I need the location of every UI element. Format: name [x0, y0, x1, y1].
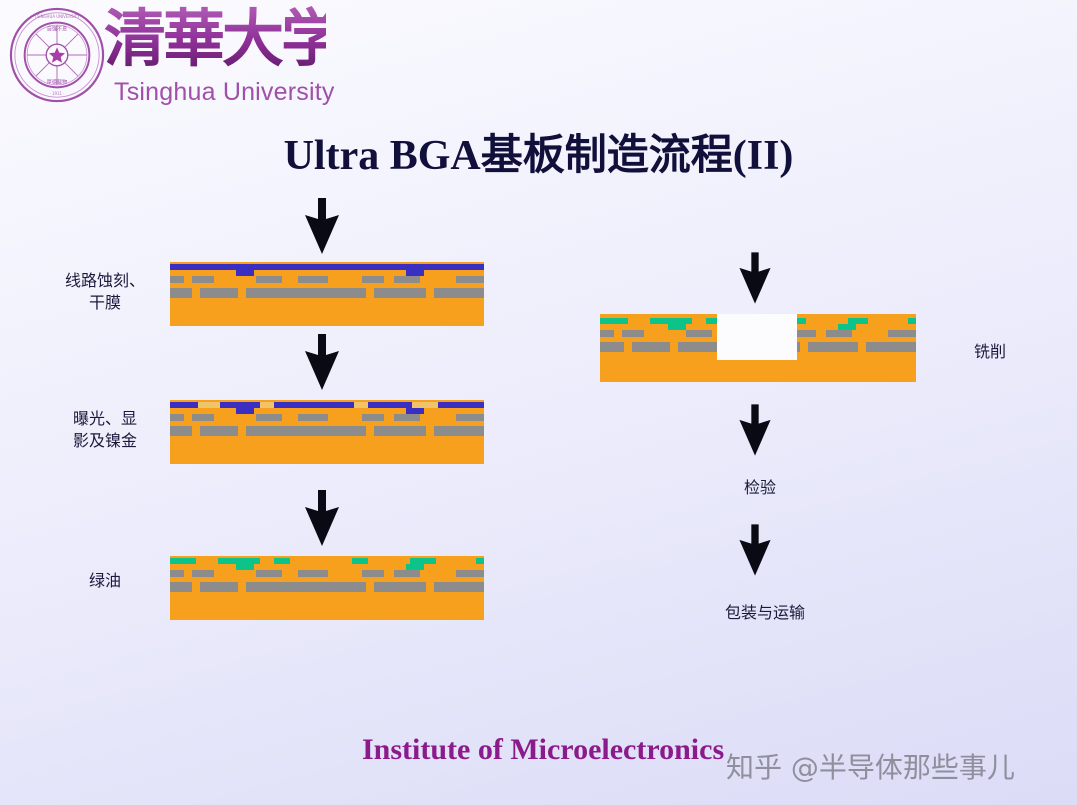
- step-label-etch-dryfilm: 线路蚀刻、 干膜: [40, 270, 170, 314]
- via-r-b: [670, 342, 678, 352]
- top-seg-c: [274, 402, 354, 408]
- trace-u1-d: [328, 276, 362, 283]
- logo-english-name: Tsinghua University: [114, 78, 335, 107]
- via-r-a: [624, 342, 632, 352]
- via-r-c: [800, 342, 808, 352]
- svg-text:· 1911 ·: · 1911 ·: [50, 91, 65, 96]
- via-l2-b: [238, 426, 246, 436]
- via-l3-b: [238, 582, 246, 592]
- milled-cavity: [717, 314, 797, 360]
- mask-opening-b: [692, 318, 706, 324]
- tsinghua-chinese-name-icon: 清華大学: [102, 0, 326, 78]
- trace-u3-b: [214, 570, 256, 577]
- via-l3-d: [426, 582, 434, 592]
- layer-dielectric-lower: [170, 426, 484, 436]
- mask-opening-e: [436, 558, 476, 564]
- trace-u1-c: [282, 276, 298, 283]
- mask-bump-b: [838, 324, 856, 330]
- mask-bump-a: [668, 324, 686, 330]
- step-label-solder-mask: 绿油: [40, 570, 170, 592]
- nigold-gap-c: [354, 402, 368, 408]
- watermark: 知乎 @半导体那些事儿: [726, 746, 1015, 786]
- trace-u2-f: [420, 414, 456, 421]
- trace-u3-a: [184, 570, 192, 577]
- dry-film-bump-b: [406, 408, 424, 414]
- step-label-inspection: 检验: [700, 474, 820, 498]
- trace-u3-f: [420, 570, 456, 577]
- mask-opening-a: [196, 558, 218, 564]
- mask-opening-b: [260, 558, 274, 564]
- mask-opening-d: [368, 558, 410, 564]
- trace-r-a: [614, 330, 622, 337]
- mask-bump-a: [236, 564, 254, 570]
- tsinghua-seal-icon: 自强不息 厚德载物 TSINGHUA UNIVERSITY · 1911 ·: [8, 6, 106, 104]
- arrow-down-5: [733, 404, 777, 456]
- trace-u3-e: [384, 570, 394, 577]
- arrow-down-3: [298, 490, 346, 546]
- via-l1-c: [366, 288, 374, 298]
- trace-u1-e: [384, 276, 394, 283]
- dry-film-bump-b: [406, 270, 424, 276]
- via-l1-b: [238, 288, 246, 298]
- dry-film-bump-a: [236, 270, 254, 276]
- board-milled: [600, 314, 916, 382]
- via-l1-a: [192, 288, 200, 298]
- trace-u2-d: [328, 414, 362, 421]
- layer-dielectric-lower: [170, 582, 484, 592]
- trace-u1-b: [214, 276, 256, 283]
- trace-u2-c: [282, 414, 298, 421]
- trace-u1-f: [420, 276, 456, 283]
- svg-text:自强不息: 自强不息: [47, 26, 67, 33]
- arrow-down-6: [733, 524, 777, 576]
- mask-bump-b: [406, 564, 424, 570]
- arrow-down-4: [733, 252, 777, 304]
- step-label-milling: 铣削: [930, 338, 1050, 362]
- tsinghua-logo: 自强不息 厚德载物 TSINGHUA UNIVERSITY · 1911 · 清…: [6, 2, 326, 110]
- trace-u3-c: [282, 570, 298, 577]
- via-l3-a: [192, 582, 200, 592]
- trace-u2-b: [214, 414, 256, 421]
- nigold-gap-b: [260, 402, 274, 408]
- mask-opening-a: [628, 318, 650, 324]
- dry-film-bump-a: [236, 408, 254, 414]
- layer-surface-copper: [170, 564, 484, 570]
- top-seg-a: [170, 402, 198, 408]
- step-label-packaging: 包装与运输: [690, 599, 840, 623]
- via-l2-c: [366, 426, 374, 436]
- trace-r-e: [816, 330, 826, 337]
- board-etch-dryfilm: [170, 262, 484, 326]
- via-l1-d: [426, 288, 434, 298]
- nigold-gap-a: [198, 402, 220, 408]
- via-l2-d: [426, 426, 434, 436]
- svg-text:厚德载物: 厚德载物: [47, 78, 67, 85]
- mask-opening-e: [868, 318, 908, 324]
- trace-u1-a: [184, 276, 192, 283]
- via-r-d: [858, 342, 866, 352]
- step-label-expose-nigold: 曝光、显 影及镍金: [40, 408, 170, 452]
- via-l3-c: [366, 582, 374, 592]
- arrow-down-1: [298, 198, 346, 254]
- layer-dry-film: [170, 264, 484, 270]
- trace-r-b: [644, 330, 686, 337]
- top-seg-e: [438, 402, 484, 408]
- svg-text:清華大学: 清華大学: [104, 2, 326, 75]
- mask-opening-c: [290, 558, 352, 564]
- trace-u3-d: [328, 570, 362, 577]
- via-l2-a: [192, 426, 200, 436]
- layer-surface-copper: [170, 270, 484, 276]
- footer-institute: Institute of Microelectronics: [362, 733, 724, 767]
- trace-u2-a: [184, 414, 192, 421]
- svg-text:TSINGHUA UNIVERSITY: TSINGHUA UNIVERSITY: [34, 14, 80, 19]
- page-title: Ultra BGA基板制造流程(II): [0, 121, 1077, 182]
- trace-r-f: [852, 330, 888, 337]
- board-expose-nigold: [170, 400, 484, 464]
- trace-u2-e: [384, 414, 394, 421]
- arrow-down-2: [298, 334, 346, 390]
- layer-dielectric-lower: [170, 288, 484, 298]
- layer-surface-copper: [170, 408, 484, 414]
- board-solder-mask: [170, 556, 484, 620]
